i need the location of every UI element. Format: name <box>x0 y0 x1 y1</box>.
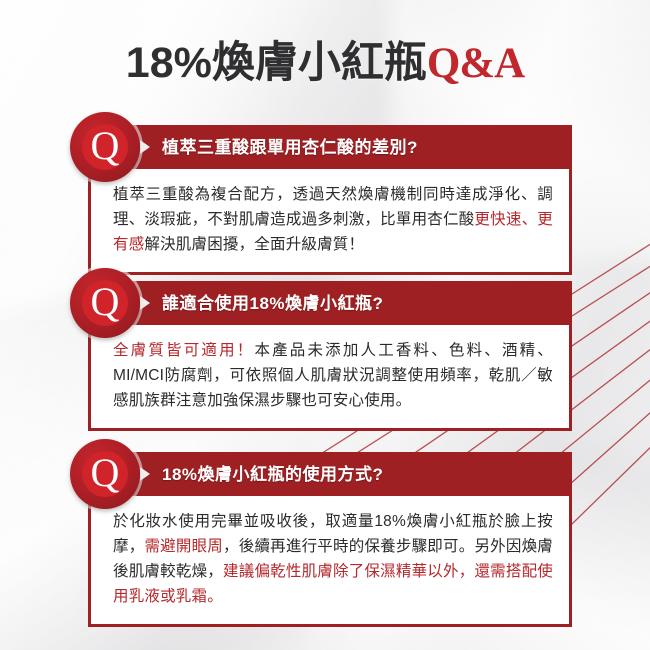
badge-pointer-icon <box>140 140 150 154</box>
question-badge-icon: Q <box>70 112 140 182</box>
faq-answer-2: 全膚質皆可適用！本產品未添加人工香料、色料、酒精、MI/MCI防腐劑，可依照個人… <box>88 325 572 431</box>
faq-question-text-1: 植萃三重酸跟單用杏仁酸的差別? <box>162 139 418 156</box>
question-badge-letter: Q <box>91 453 120 493</box>
page-title-accent: Q&A <box>427 40 524 87</box>
faq-question-bar-2[interactable]: 誰適合使用18%煥膚小紅瓶? <box>88 281 572 325</box>
page-title: 18%煥膚小紅瓶Q&A <box>0 42 650 85</box>
faq-answer-3: 於化妝水使用完畢並吸收後，取適量18%煥膚小紅瓶於臉上按摩，需避開眼周，後續再進… <box>88 496 572 627</box>
text-run: 解決肌膚困擾，全面升級膚質！ <box>144 236 364 253</box>
faq-answer-1: 植萃三重酸為複合配方，透過天然煥膚機制同時達成淨化、調理、淡瑕疵，不對肌膚造成過… <box>88 169 572 275</box>
question-badge-ring: Q <box>82 280 128 326</box>
faq-item-2: Q 誰適合使用18%煥膚小紅瓶? 全膚質皆可適用！本產品未添加人工香料、色料、酒… <box>88 281 572 431</box>
faq-answer-paragraph-2: 全膚質皆可適用！本產品未添加人工香料、色料、酒精、MI/MCI防腐劑，可依照個人… <box>113 338 553 413</box>
faq-question-bar-3[interactable]: 18%煥膚小紅瓶的使用方式? <box>88 452 572 496</box>
page-title-main: 18%煥膚小紅瓶 <box>126 39 427 87</box>
faq-question-bar-1[interactable]: 植萃三重酸跟單用杏仁酸的差別? <box>88 125 572 169</box>
faq-answer-paragraph-3: 於化妝水使用完畢並吸收後，取適量18%煥膚小紅瓶於臉上按摩，需避開眼周，後續再進… <box>113 509 553 609</box>
badge-pointer-icon <box>140 467 150 481</box>
faq-poster: 18%煥膚小紅瓶Q&A Q 植萃三重酸跟單用杏仁酸的差別? 植萃三重酸為複合配方… <box>0 0 650 650</box>
faq-question-text-3: 18%煥膚小紅瓶的使用方式? <box>162 466 383 483</box>
question-badge-ring: Q <box>82 451 128 497</box>
faq-question-text-2: 誰適合使用18%煥膚小紅瓶? <box>162 295 383 312</box>
faq-answer-paragraph-1: 植萃三重酸為複合配方，透過天然煥膚機制同時達成淨化、調理、淡瑕疵，不對肌膚造成過… <box>113 182 553 257</box>
highlighted-text-run: 全膚質皆可適用！ <box>113 342 254 359</box>
question-badge-icon: Q <box>70 268 140 338</box>
question-badge-icon: Q <box>70 439 140 509</box>
question-badge-ring: Q <box>82 124 128 170</box>
highlighted-text-run: 需避開眼周 <box>144 538 223 555</box>
faq-item-3: Q 18%煥膚小紅瓶的使用方式? 於化妝水使用完畢並吸收後，取適量18%煥膚小紅… <box>88 452 572 627</box>
question-badge-letter: Q <box>91 126 120 166</box>
question-badge-letter: Q <box>91 282 120 322</box>
faq-item-1: Q 植萃三重酸跟單用杏仁酸的差別? 植萃三重酸為複合配方，透過天然煥膚機制同時達… <box>88 125 572 275</box>
badge-pointer-icon <box>140 296 150 310</box>
